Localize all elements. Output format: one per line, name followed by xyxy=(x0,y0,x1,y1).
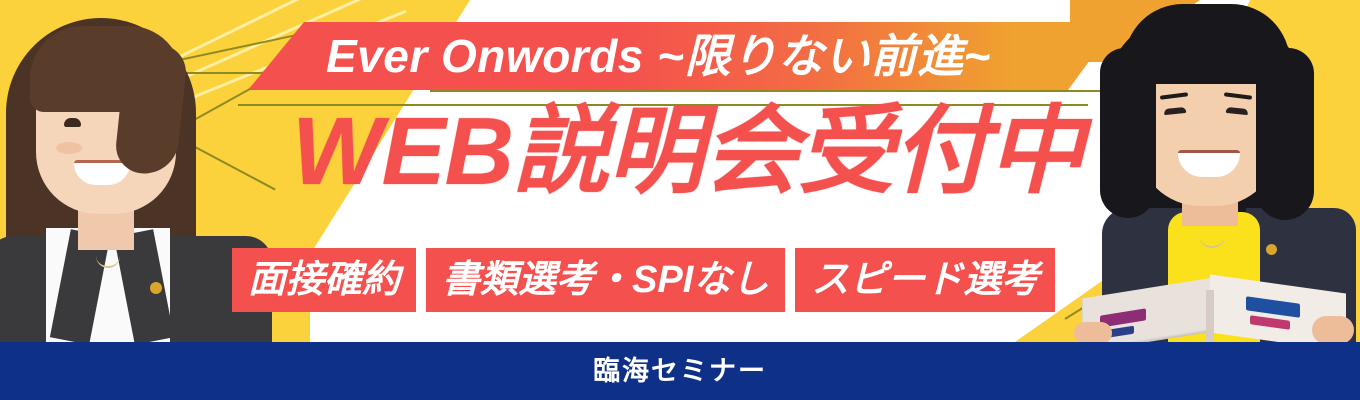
status-badge: スピード選考 xyxy=(795,248,1055,312)
status-badge: 書類選考・SPIなし xyxy=(426,248,785,312)
brand-footer-bar: 臨海セミナー xyxy=(0,342,1360,400)
tagline-text: Ever Onwords ~限りない前進~ xyxy=(326,33,991,79)
brand-name: 臨海セミナー xyxy=(593,358,767,385)
recruitment-banner: Ever Onwords ~限りない前進~ WEB説明会受付中 面接確約 書類選… xyxy=(0,0,1360,400)
feature-badge-group: 面接確約 書類選考・SPIなし スピード選考 xyxy=(232,248,1055,312)
status-badge: 面接確約 xyxy=(232,248,416,312)
page-title: WEB説明会受付中 xyxy=(292,104,1083,200)
person-right-photo xyxy=(1060,0,1360,342)
tagline-ribbon: Ever Onwords ~限りない前進~ xyxy=(248,22,1118,90)
